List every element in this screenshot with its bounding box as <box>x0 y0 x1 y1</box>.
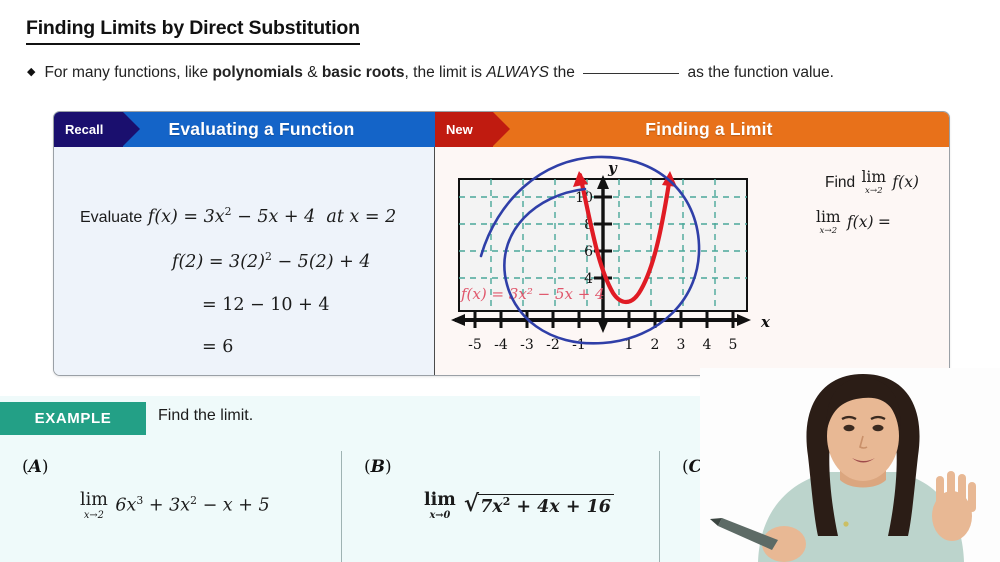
function-label: f(x) = 3x² − 5x + 4 <box>460 285 605 303</box>
problem-a-label: (A) <box>22 457 48 477</box>
limit-operator-a: lim x→2 <box>80 492 108 520</box>
limit-operator-1: lim x→2 <box>861 170 886 195</box>
bullet-part2: , the limit is <box>405 64 487 81</box>
lim-text-2: lim <box>816 210 841 226</box>
eq2-a: f(2) = 3(2) <box>172 252 265 272</box>
find-word: Find <box>825 174 855 191</box>
example-badge: EXAMPLE <box>0 402 146 435</box>
presenter-video-overlay <box>700 368 1000 562</box>
header-right-title: Finding a Limit <box>435 112 949 147</box>
bullet-part4: as the function value. <box>683 64 834 81</box>
bullet-italic-always: ALWAYS <box>486 64 549 81</box>
problem-b-term2: + 4x + 16 <box>510 497 611 517</box>
radical-sign: √ <box>464 494 479 517</box>
lim-sub-1: x→2 <box>865 187 883 196</box>
problem-b-label: (B) <box>364 457 392 477</box>
equation-line-4: = 6 <box>202 337 233 357</box>
equals-sign: = <box>878 213 891 231</box>
recall-tag: Recall <box>54 112 123 147</box>
header-finding-limit: Finding a Limit New <box>435 112 949 147</box>
comparison-table: Evaluating a Function Recall Finding a L… <box>53 111 950 376</box>
comparison-body: Evaluate f(x) = 3x2 − 5x + 4 at x = 2 f(… <box>54 147 949 376</box>
eq1-exponent: 2 <box>225 205 232 218</box>
problem-a-term1: 6x <box>115 496 136 516</box>
problem-a-term3: − x + 5 <box>197 496 270 516</box>
lim-sub-a: x→2 <box>84 511 104 521</box>
header-evaluating-function: Evaluating a Function Recall <box>54 112 435 147</box>
lim-text-b: lim <box>424 492 456 510</box>
panel-finding-limit: -5 -4 -3 -2 -1 1 2 3 4 5 10 <box>435 147 949 376</box>
eq2-exponent: 2 <box>265 250 272 263</box>
problem-b-term1: 7x <box>480 497 503 517</box>
limit-function-1: f(x) <box>892 173 919 191</box>
eq2-b: − 5(2) + 4 <box>272 252 371 272</box>
panel-evaluating-function: Evaluate f(x) = 3x2 − 5x + 4 at x = 2 f(… <box>54 147 435 376</box>
equation-line-1: Evaluate f(x) = 3x2 − 5x + 4 at x = 2 <box>80 207 396 227</box>
bullet-part1: For many functions, like <box>44 64 212 81</box>
find-limit-line: Find lim x→2 f(x) <box>808 163 936 203</box>
svg-text:-3: -3 <box>520 337 534 353</box>
bullet-bold-polynomials: polynomials <box>212 64 302 81</box>
limit-operator-b: lim x→0 <box>424 492 456 520</box>
svg-text:-2: -2 <box>546 337 560 353</box>
bullet-line: ◆ For many functions, like polynomials &… <box>27 64 980 82</box>
limit-function-2: f(x) <box>847 213 874 231</box>
svg-text:4: 4 <box>703 337 712 353</box>
lim-sub-b: x→0 <box>429 511 450 521</box>
square-root-icon: √ 7x2 + 4x + 16 <box>464 494 614 517</box>
equation-line-3: = 12 − 10 + 4 <box>202 295 329 315</box>
x-axis-label: x <box>760 313 771 331</box>
limit-prompt-block: Find lim x→2 f(x) lim x→2 f(x) = <box>808 163 936 243</box>
page-title: Finding Limits by Direct Substitution <box>26 17 360 45</box>
limit-operator-2: lim x→2 <box>816 210 841 235</box>
svg-text:2: 2 <box>651 337 660 353</box>
x-tick-labels: -5 -4 -3 -2 -1 1 2 3 4 5 <box>468 337 737 353</box>
problem-a[interactable]: (A) lim x→2 6x3 + 3x2 − x + 5 <box>0 451 341 562</box>
comparison-header: Evaluating a Function Recall Finding a L… <box>54 112 949 147</box>
problem-a-expression: lim x→2 6x3 + 3x2 − x + 5 <box>78 492 270 520</box>
y-axis-label: y <box>607 159 618 177</box>
problem-a-letter: A <box>29 457 42 477</box>
graph-svg: -5 -4 -3 -2 -1 1 2 3 4 5 10 <box>445 153 775 368</box>
bullet-bold-basicroots: basic roots <box>322 64 405 81</box>
problem-b-letter: B <box>371 457 385 477</box>
new-tag: New <box>435 112 493 147</box>
svg-text:6: 6 <box>584 244 593 260</box>
svg-text:-1: -1 <box>572 337 586 353</box>
svg-text:-5: -5 <box>468 337 482 353</box>
eq1-function: f(x) = 3x <box>148 207 225 227</box>
bullet-part3: the <box>549 64 579 81</box>
problem-a-term2: + 3x <box>143 496 190 516</box>
evaluate-word: Evaluate <box>80 209 142 226</box>
svg-text:3: 3 <box>677 337 686 353</box>
radicand: 7x2 + 4x + 16 <box>478 494 614 517</box>
left-eye <box>844 425 855 431</box>
right-eye <box>873 425 884 431</box>
lim-text-a: lim <box>80 492 108 510</box>
lim-text-1: lim <box>861 170 886 186</box>
presenter-illustration <box>700 368 1000 562</box>
eq1-at-clause: at x = 2 <box>326 207 396 227</box>
svg-text:5: 5 <box>729 337 738 353</box>
example-prompt: Find the limit. <box>158 407 253 425</box>
diamond-bullet-icon: ◆ <box>27 67 35 78</box>
bullet-text: For many functions, like polynomials & b… <box>44 64 833 82</box>
lim-sub-2: x→2 <box>819 227 837 236</box>
svg-text:-4: -4 <box>494 337 508 353</box>
problem-a-exp2: 2 <box>190 494 197 507</box>
problem-b[interactable]: (B) lim x→0 √ 7x2 + 4x + 16 <box>341 451 659 562</box>
fill-in-blank[interactable] <box>583 73 679 74</box>
slide-root: Finding Limits by Direct Substitution ◆ … <box>0 0 1000 562</box>
equation-line-2: f(2) = 3(2)2 − 5(2) + 4 <box>172 252 371 272</box>
eq1-rest: − 5x + 4 <box>232 207 316 227</box>
problem-b-expression: lim x→0 √ 7x2 + 4x + 16 <box>422 492 614 520</box>
shirt-detail <box>843 521 848 526</box>
limit-answer-line: lim x→2 f(x) = <box>808 203 936 243</box>
bullet-amp: & <box>303 64 322 81</box>
parabola-graph: -5 -4 -3 -2 -1 1 2 3 4 5 10 <box>445 153 775 368</box>
